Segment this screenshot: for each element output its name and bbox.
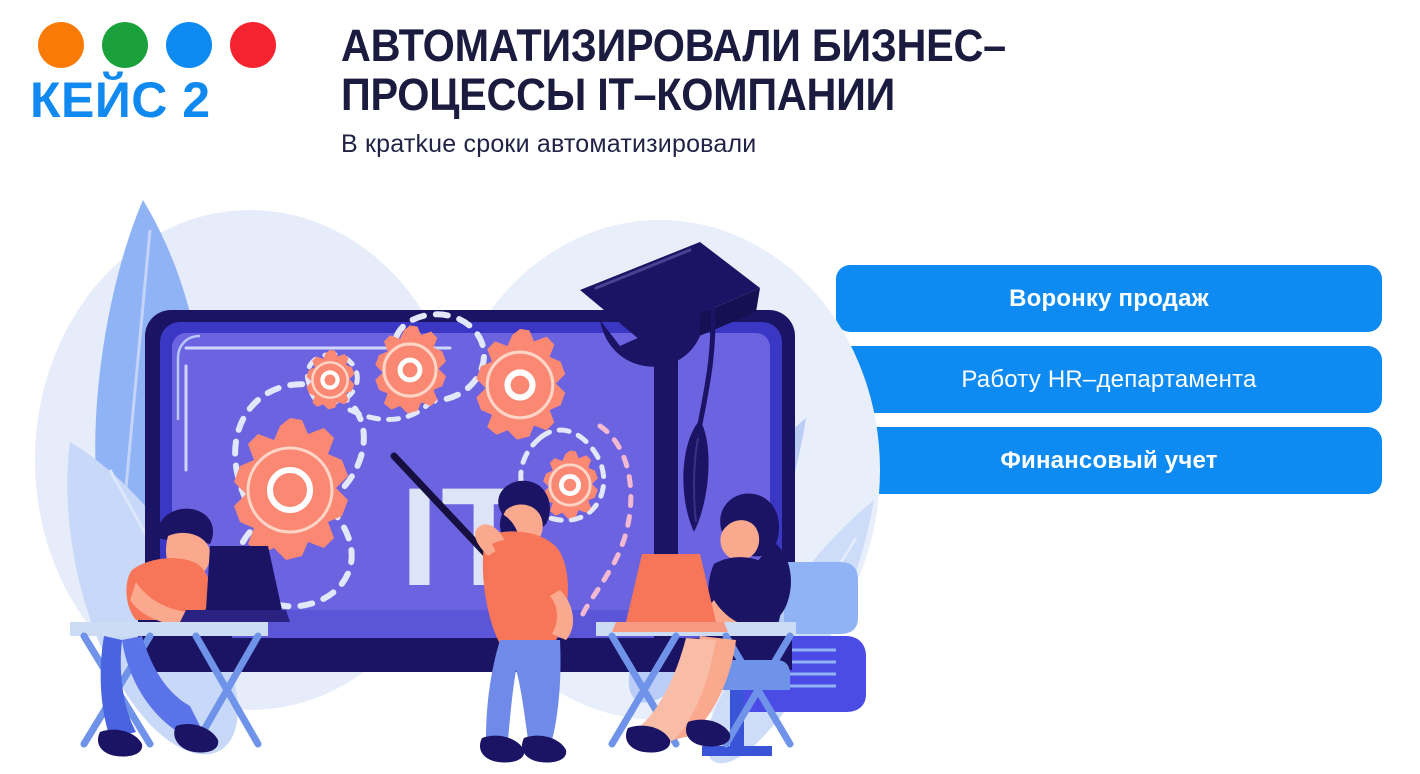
blue-dot	[166, 22, 212, 68]
action-hr-department[interactable]: Работу HR–департамента	[836, 346, 1382, 413]
red-dot	[230, 22, 276, 68]
action-sales-funnel[interactable]: Воронку продаж	[836, 265, 1382, 332]
headline-line-2: ПРОЦЕССЫ IT–КОМПАНИИ	[341, 71, 1224, 120]
man-laptop-base	[180, 610, 290, 622]
hero-illustration: IT	[0, 170, 880, 774]
action-financial-accounting[interactable]: Финансовый учет	[836, 427, 1382, 494]
action-list: Воронку продаж Работу HR–департамента Фи…	[836, 265, 1382, 494]
logo-title: КЕЙС 2	[30, 74, 280, 127]
presenter-legs	[486, 640, 561, 740]
man-desk-top	[70, 622, 268, 636]
woman-chair-base	[702, 746, 772, 756]
headline-block: АВТОМАТИЗИРОВАЛИ БИЗНЕС– ПРОЦЕССЫ IT–КОМ…	[341, 22, 1301, 159]
subtitle: В кратkue сроки автоматизировали	[341, 130, 1301, 159]
poster-canvas: КЕЙС 2 АВТОМАТИЗИРОВАЛИ БИЗНЕС– ПРОЦЕССЫ…	[0, 0, 1420, 774]
woman-laptop-base	[612, 622, 728, 632]
man-shoe-2	[98, 730, 142, 757]
green-dot	[102, 22, 148, 68]
headline-line-1: АВТОМАТИЗИРОВАЛИ БИЗНЕС–	[341, 22, 1224, 71]
brand-logo: КЕЙС 2	[30, 22, 280, 127]
presenter-shoe-1	[480, 736, 524, 763]
presenter-shoe-2	[522, 736, 566, 763]
orange-dot	[38, 22, 84, 68]
header: КЕЙС 2 АВТОМАТИЗИРОВАЛИ БИЗНЕС– ПРОЦЕССЫ…	[0, 0, 1420, 180]
logo-dot-row	[30, 22, 280, 68]
